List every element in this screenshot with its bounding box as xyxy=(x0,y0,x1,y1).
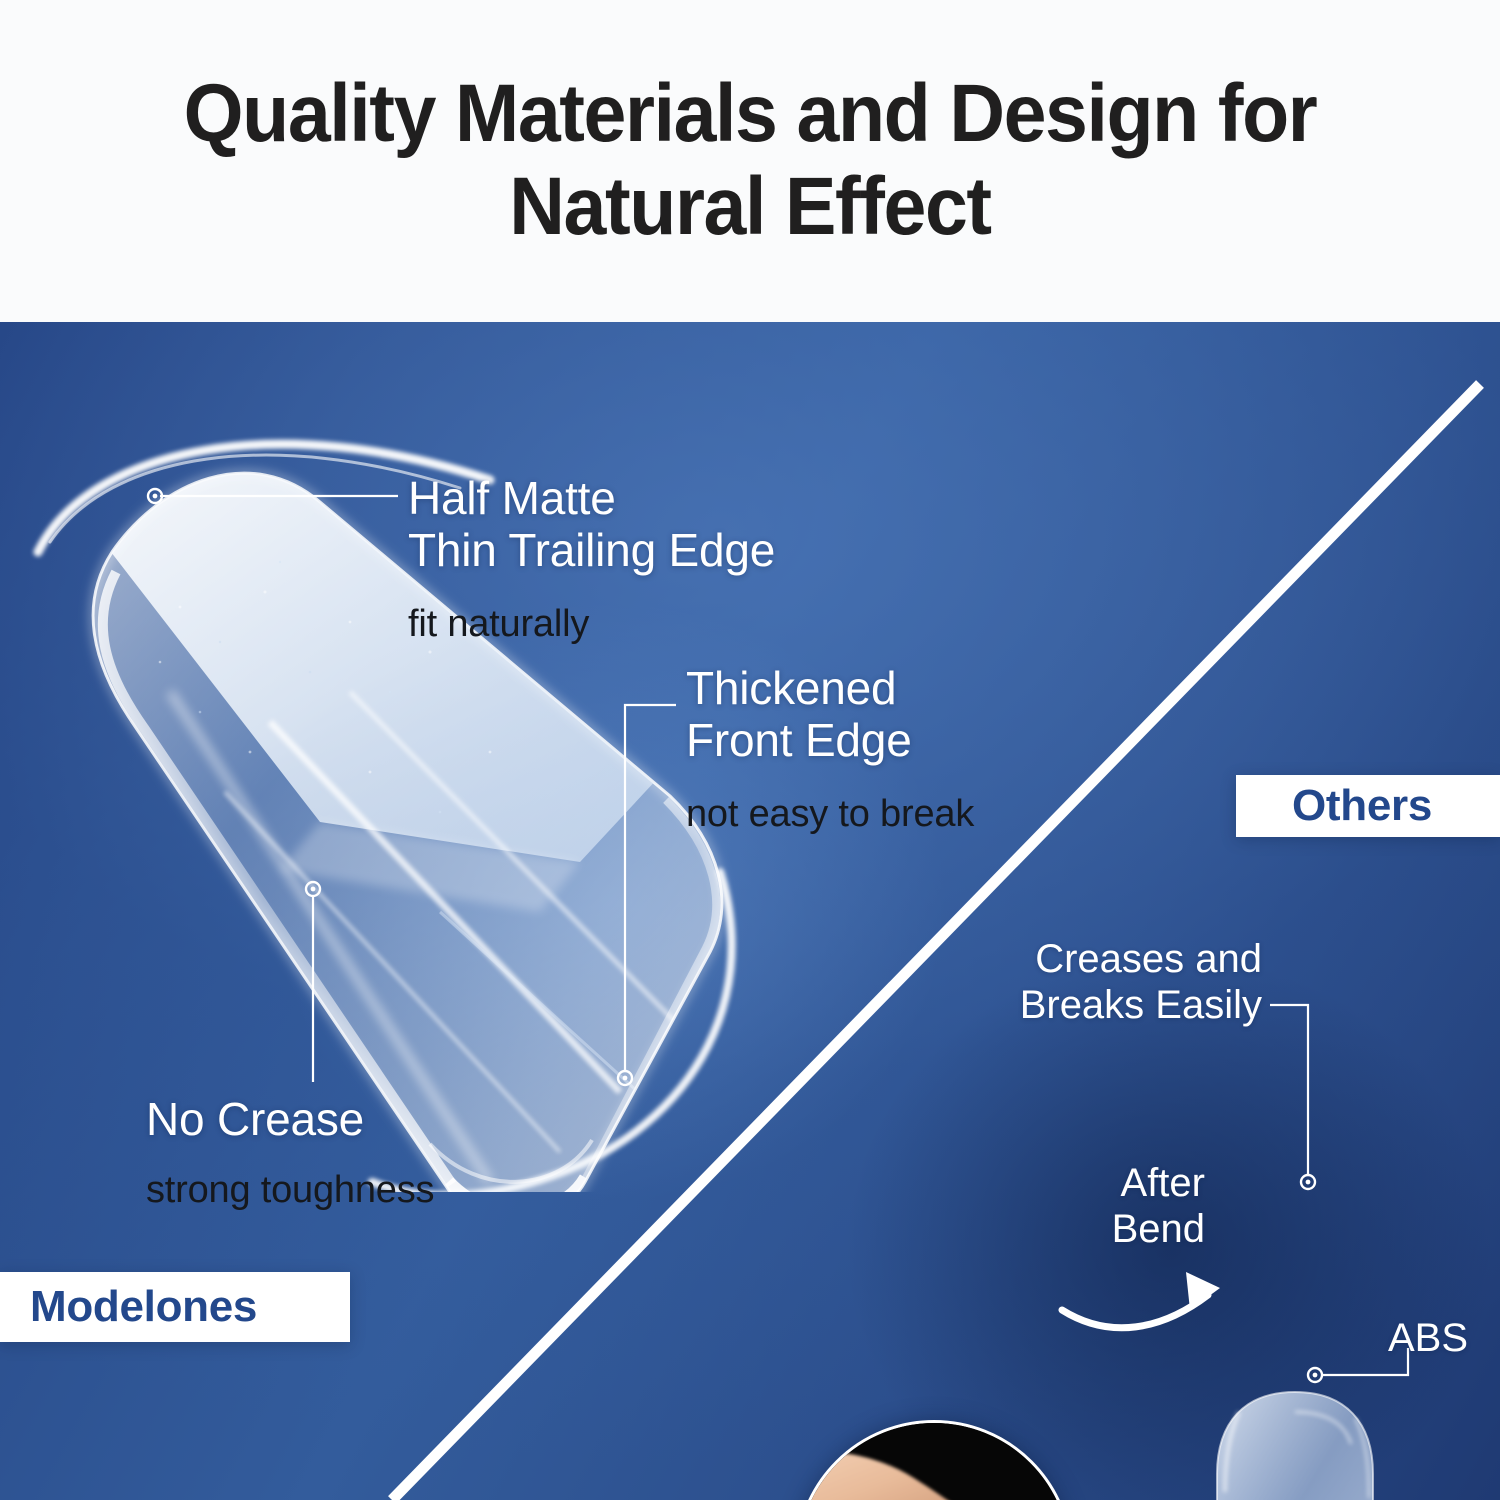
label-abs-material: ABS xyxy=(1388,1315,1468,1361)
badge-modelones: Modelones xyxy=(0,1272,350,1342)
page-title: Quality Materials and Design for Natural… xyxy=(167,68,1333,253)
label-half-matte-subtitle: fit naturally xyxy=(408,602,589,648)
label-after-bend: After Bend xyxy=(1020,1160,1205,1252)
label-half-matte-title: Half Matte Thin Trailing Edge xyxy=(408,472,775,577)
label-no-crease-title: No Crease xyxy=(146,1093,364,1145)
bend-test-photo xyxy=(795,1420,1073,1500)
label-creases-breaks: Creases and Breaks Easily xyxy=(1010,936,1262,1028)
header-band: Quality Materials and Design for Natural… xyxy=(0,0,1500,322)
badge-others: Others xyxy=(1236,775,1500,837)
label-no-crease-subtitle: strong toughness xyxy=(146,1168,434,1214)
label-thickened-front-edge-subtitle: not easy to break xyxy=(686,792,974,838)
label-thickened-front-edge-title: Thickened Front Edge xyxy=(686,662,912,767)
infographic-page: Quality Materials and Design for Natural… xyxy=(0,0,1500,1500)
abs-nail-illustration xyxy=(1195,1382,1395,1500)
bend-test-photo-content xyxy=(798,1423,1070,1500)
